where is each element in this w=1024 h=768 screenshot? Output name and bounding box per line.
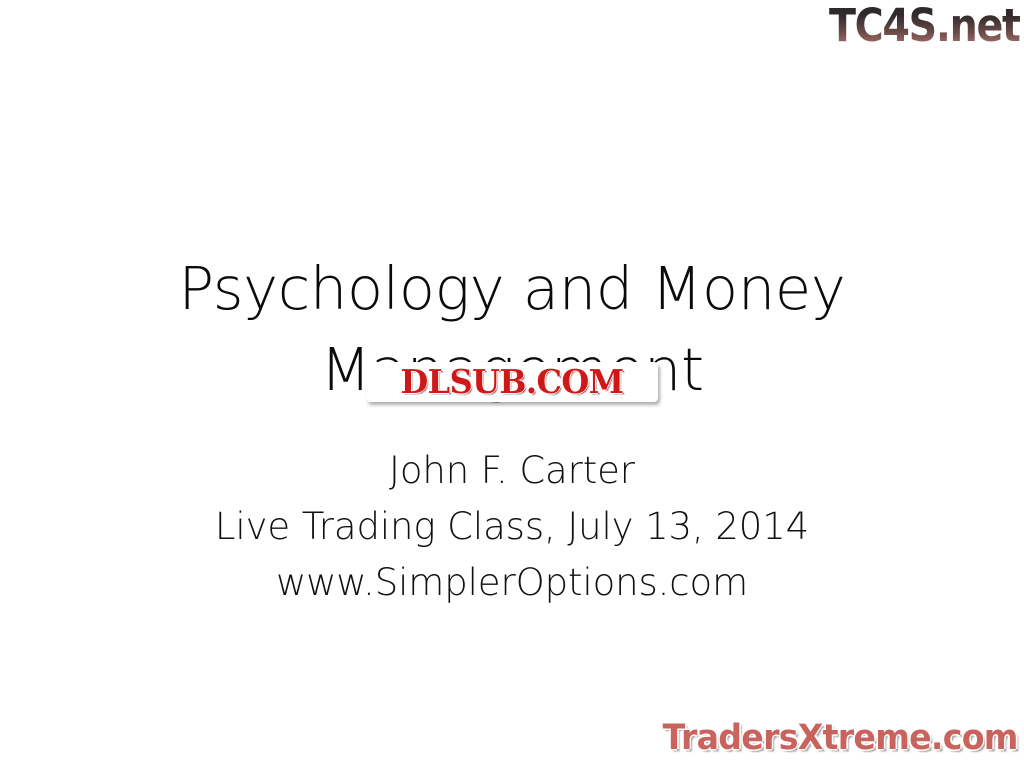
subtitle-website: www.SimplerOptions.com bbox=[80, 555, 944, 611]
dlsub-watermark-label: DLSUB.COM bbox=[370, 362, 653, 402]
dlsub-watermark: DLSUB.COM bbox=[366, 362, 658, 404]
subtitle-event: Live Trading Class, July 13, 2014 bbox=[80, 499, 944, 555]
presentation-slide: TC4S.net Psychology and Money Management… bbox=[0, 0, 1024, 768]
tradersxtreme-watermark: TradersXtreme.com bbox=[663, 716, 1018, 760]
subtitle-presenter: John F. Carter bbox=[80, 443, 944, 499]
tc4s-watermark: TC4S.net bbox=[829, 1, 1020, 51]
subtitle-block: John F. Carter Live Trading Class, July … bbox=[80, 443, 944, 611]
